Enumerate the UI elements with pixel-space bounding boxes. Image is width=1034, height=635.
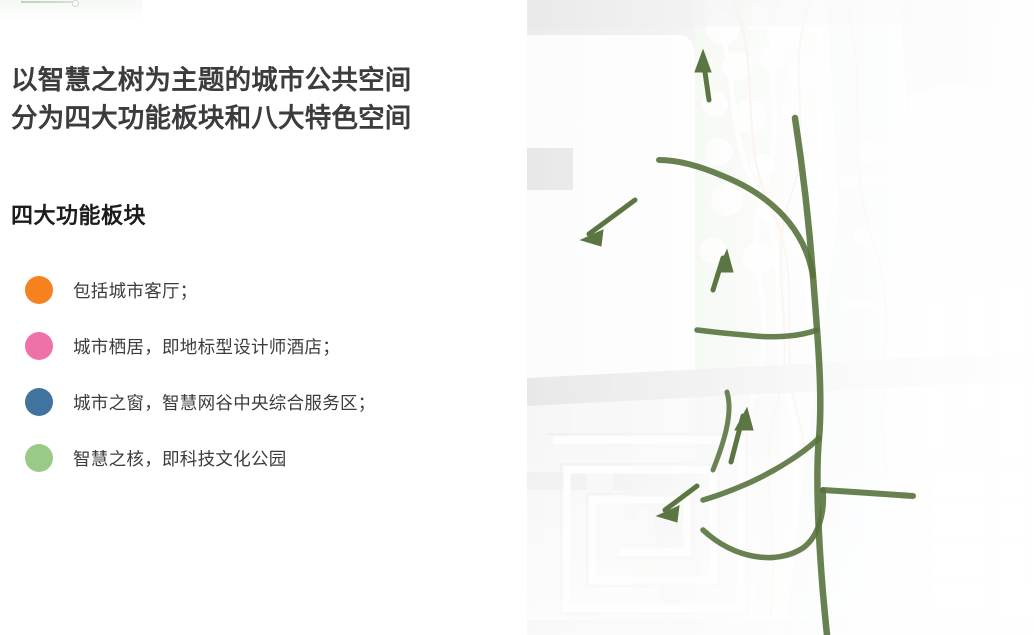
bullet-dot-orange bbox=[25, 276, 53, 304]
page-title: 以智慧之树为主题的城市公共空间 分为四大功能板块和八大特色空间 bbox=[11, 62, 481, 137]
bullet-dot-green bbox=[25, 444, 53, 472]
text-panel: 以智慧之树为主题的城市公共空间 分为四大功能板块和八大特色空间 四大功能板块 包… bbox=[0, 0, 520, 635]
list-item-label: 城市栖居，即地标型设计师酒店； bbox=[73, 334, 340, 359]
bullet-dot-pink bbox=[25, 332, 53, 360]
list-item-label: 智慧之核，即科技文化公园 bbox=[73, 446, 287, 471]
list-item-label: 城市之窗，智慧网谷中央综合服务区； bbox=[73, 390, 376, 415]
section-heading: 四大功能板块 bbox=[11, 198, 146, 230]
list-item-label: 包括城市客厅； bbox=[73, 278, 198, 303]
page-title-line-1: 以智慧之树为主题的城市公共空间 bbox=[11, 62, 481, 100]
list-item: 城市之窗，智慧网谷中央综合服务区； bbox=[0, 374, 500, 430]
map-global-wash bbox=[527, 0, 1034, 635]
bullet-list: 包括城市客厅； 城市栖居，即地标型设计师酒店； 城市之窗，智慧网谷中央综合服务区… bbox=[0, 262, 500, 486]
aerial-masterplan-image: 智慧之核 城市之窗 城市栖居 城市客厅 bbox=[527, 0, 1034, 635]
slide-canvas: 以智慧之树为主题的城市公共空间 分为四大功能板块和八大特色空间 四大功能板块 包… bbox=[0, 0, 1034, 635]
list-item: 包括城市客厅； bbox=[0, 262, 500, 318]
list-item: 城市栖居，即地标型设计师酒店； bbox=[0, 318, 500, 374]
page-title-line-2: 分为四大功能板块和八大特色空间 bbox=[11, 100, 481, 138]
bullet-dot-blue bbox=[25, 388, 53, 416]
masterplan-graphic bbox=[527, 0, 1034, 635]
list-item: 智慧之核，即科技文化公园 bbox=[0, 430, 500, 486]
